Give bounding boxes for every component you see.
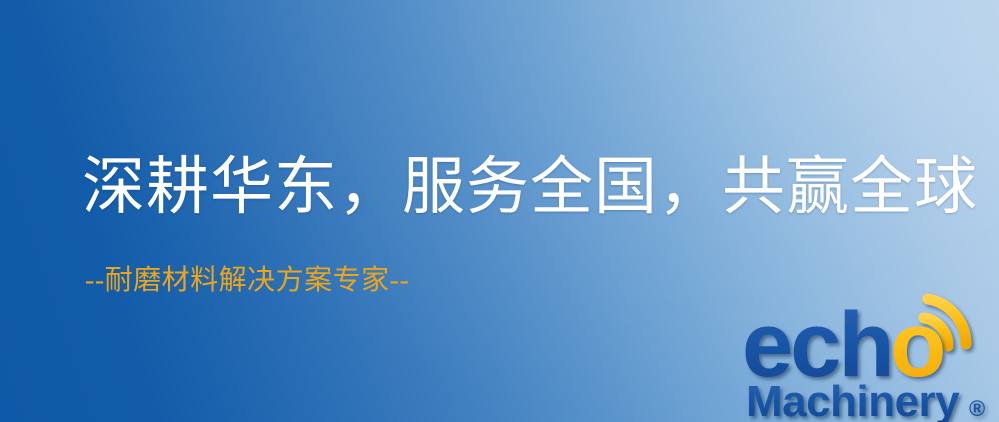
banner-subtitle: --耐磨材料解决方案专家-- xyxy=(85,264,409,298)
hero-banner: 深耕华东，服务全国，共赢全球 --耐磨材料解决方案专家-- xyxy=(0,0,999,422)
echo-machinery-logo[interactable]: ech o Machinery ® xyxy=(742,288,999,422)
banner-headline: 深耕华东，服务全国，共赢全球 xyxy=(82,152,978,223)
logo-wordmark-machinery: Machinery xyxy=(746,377,960,422)
logo-registered-mark: ® xyxy=(969,396,985,421)
